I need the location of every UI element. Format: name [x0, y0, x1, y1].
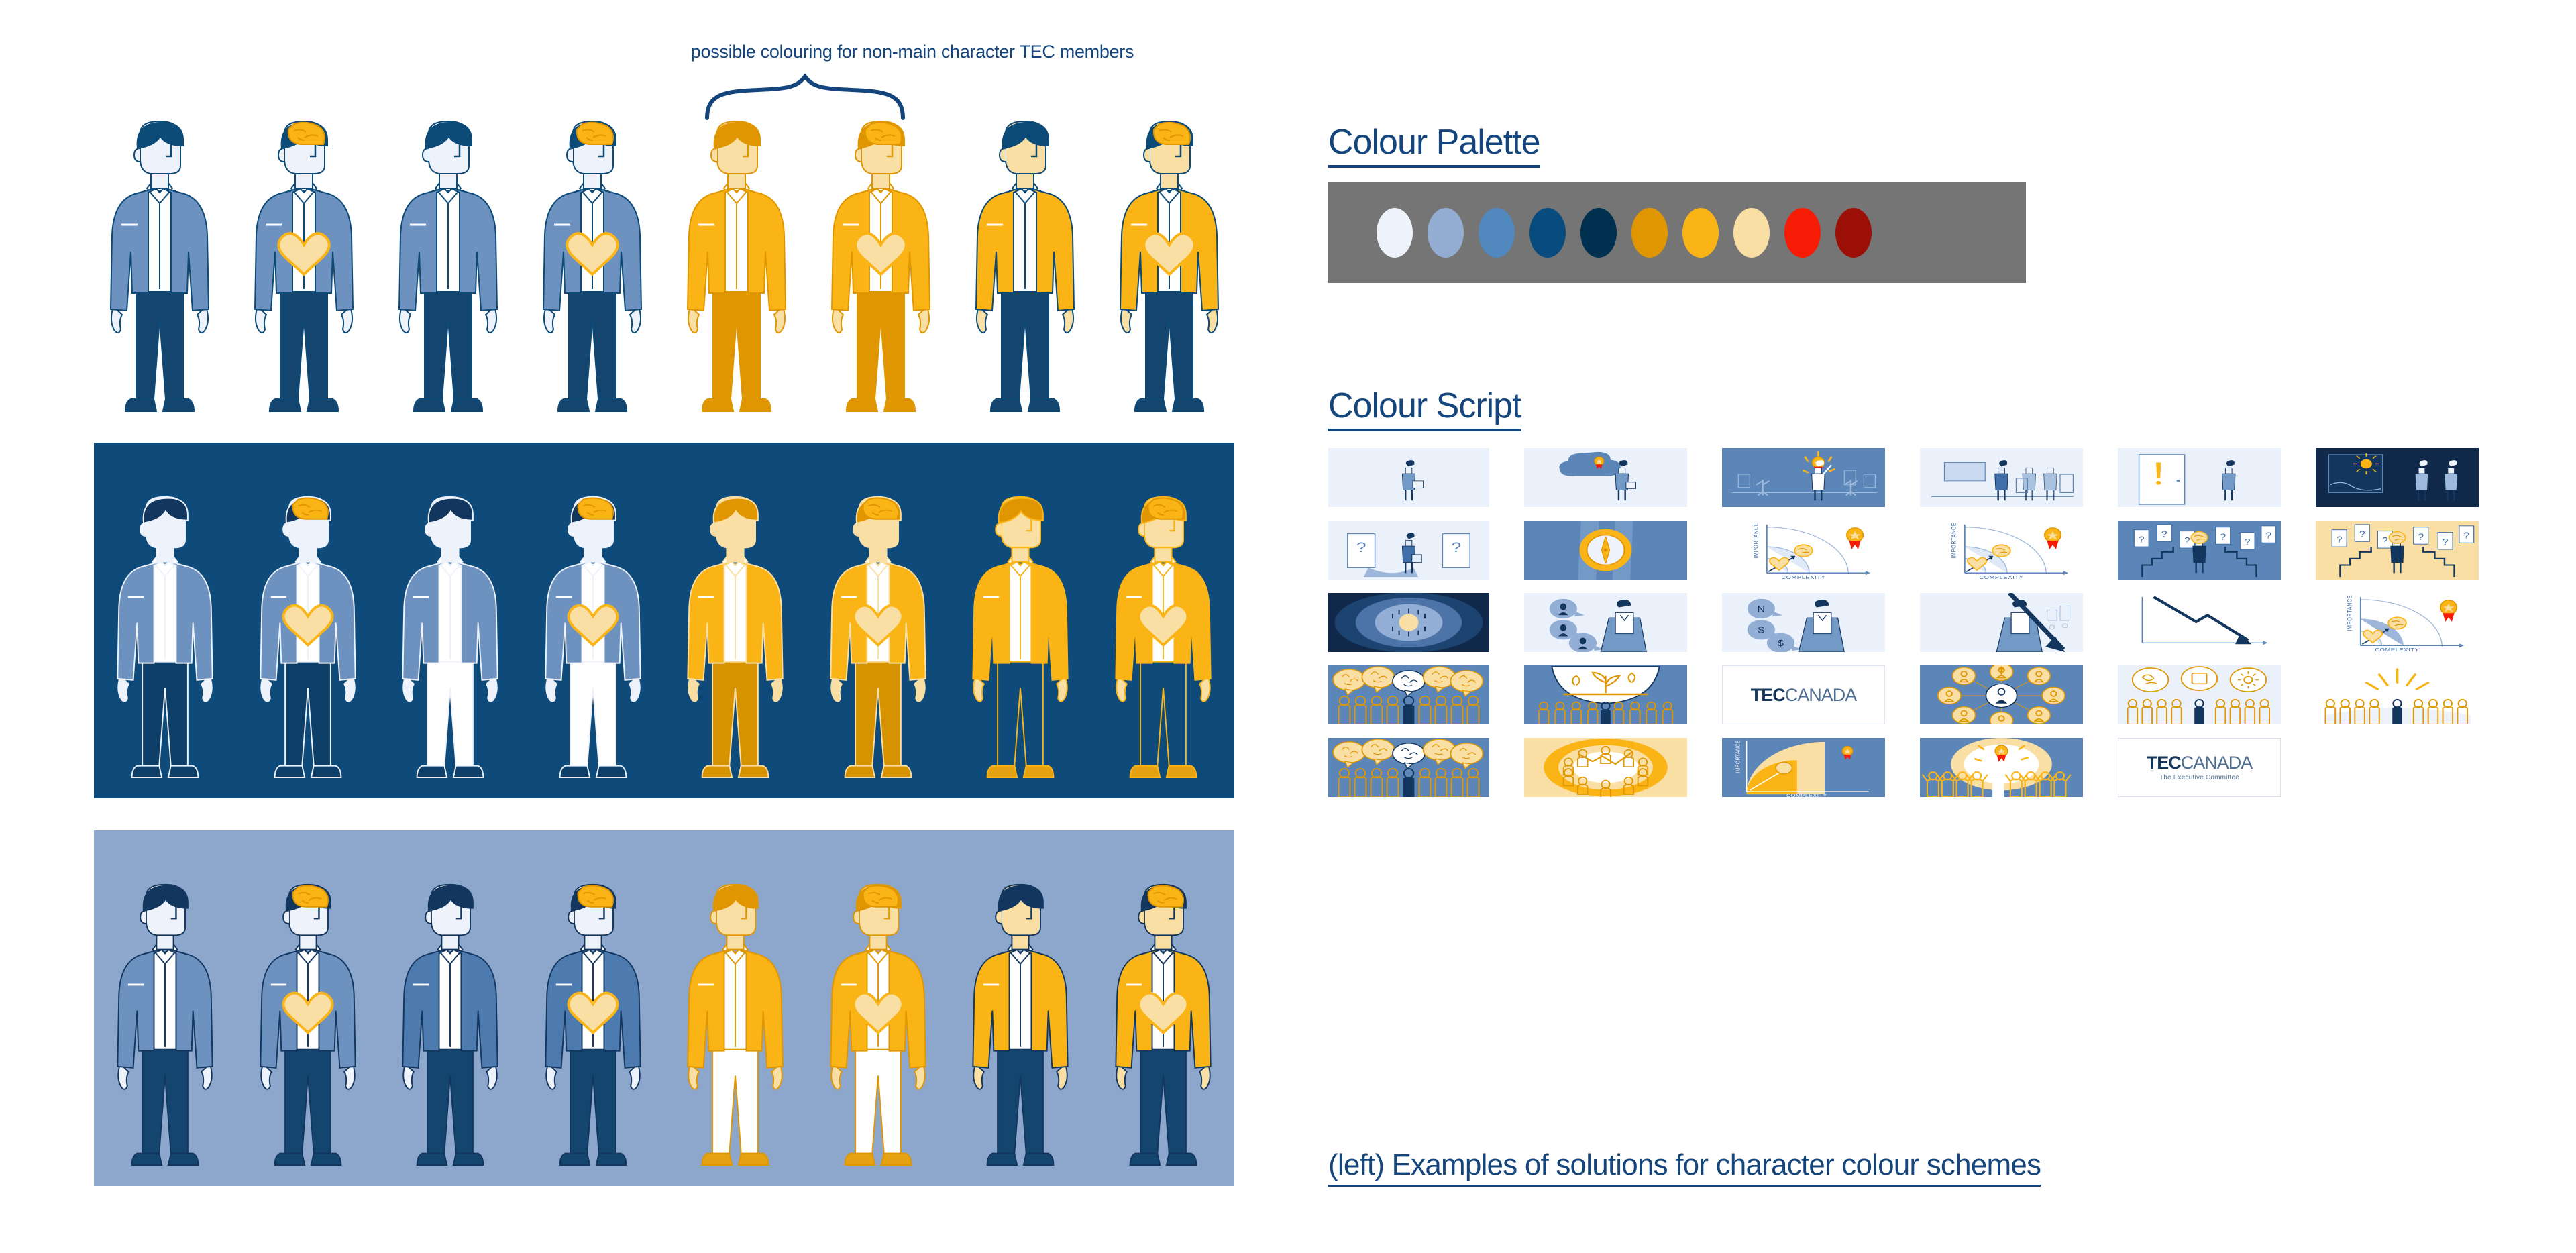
colour-script-thumbnail-night-window[interactable]	[2316, 448, 2479, 507]
colour-script-row: ? ? IMPORTANCE	[1328, 521, 2509, 580]
character-colour-sheet: possible colouring for non-main characte…	[0, 0, 1275, 1253]
character-2[interactable]	[231, 84, 376, 433]
colour-script-thumbnail-crowd-medal-dark[interactable]	[1722, 448, 1885, 507]
svg-text:?: ?	[2161, 530, 2167, 539]
tec-canada-logo-with-tagline: TECCANADA The Executive Committee	[2118, 738, 2281, 797]
character-figure	[384, 117, 512, 433]
colour-script-thumbnail-chart-gold-medal[interactable]: IMPORTANCE COMPLEXITY	[1722, 738, 1885, 797]
character-5[interactable]	[664, 424, 807, 798]
svg-text:COMPLEXITY: COMPLEXITY	[1786, 793, 1827, 797]
character-figure	[244, 493, 372, 798]
tec-logo-tagline: The Executive Committee	[2159, 774, 2239, 781]
character-figure	[386, 493, 514, 798]
character-figure	[529, 493, 657, 798]
character-figure	[529, 881, 657, 1186]
palette-swatch-dark-gold[interactable]	[1631, 208, 1668, 258]
character-figure	[96, 117, 223, 433]
colour-script-thumbnail-medal-celebration[interactable]	[1920, 738, 2083, 797]
svg-text:?: ?	[2418, 533, 2424, 542]
svg-text:COMPLEXITY: COMPLEXITY	[2375, 647, 2419, 652]
palette-swatch-off-white[interactable]	[1377, 208, 1413, 258]
character-figure	[814, 493, 942, 798]
character-1[interactable]	[94, 424, 237, 798]
svg-text:?: ?	[1356, 539, 1366, 555]
svg-text:IMPORTANCE: IMPORTANCE	[1753, 523, 1760, 559]
svg-text:S: S	[1758, 626, 1765, 635]
character-figure	[957, 493, 1084, 798]
svg-text:?: ?	[2184, 537, 2190, 546]
character-4[interactable]	[522, 424, 665, 798]
colour-script-thumbnail-thought-bubbles-audience[interactable]	[2118, 665, 2281, 724]
character-5[interactable]	[664, 812, 807, 1186]
colour-palette-title: Colour Palette	[1328, 124, 1540, 168]
colour-script-thumbnail-meeting-room[interactable]	[1920, 448, 2083, 507]
character-8[interactable]	[1092, 812, 1235, 1186]
colour-script-row: N S $	[1328, 593, 2509, 652]
svg-text:IMPORTANCE: IMPORTANCE	[1735, 740, 1741, 773]
character-3[interactable]	[379, 424, 522, 798]
colour-script-thumbnail-network-hub[interactable]	[1920, 665, 2083, 724]
colour-script-row: IMPORTANCE COMPLEXITY	[1328, 738, 2509, 797]
character-figure	[672, 493, 799, 798]
tec-logo-bold: TEC	[1751, 685, 1785, 705]
character-6[interactable]	[808, 84, 953, 433]
colour-script-thumbnail-tec-logo-tagline[interactable]: TECCANADA The Executive Committee	[2118, 738, 2281, 797]
colour-script-thumbnail-speech-crowd-gold[interactable]	[1328, 738, 1489, 797]
svg-text:?: ?	[1451, 539, 1461, 555]
bracket-annotation: possible colouring for non-main characte…	[684, 42, 1140, 129]
character-8[interactable]	[1092, 424, 1235, 798]
character-figure	[814, 881, 942, 1186]
character-8[interactable]	[1097, 84, 1241, 433]
character-3[interactable]	[379, 812, 522, 1186]
character-figure	[1099, 881, 1227, 1186]
colour-script-thumbnail-tec-logo[interactable]: TECCANADA	[1722, 665, 1885, 724]
character-row-on-white	[87, 84, 1241, 433]
character-row-on-navy	[94, 443, 1234, 798]
character-7[interactable]	[949, 424, 1092, 798]
colour-script-thumbnail-speech-crowd-gold[interactable]	[1328, 665, 1489, 724]
character-2[interactable]	[237, 424, 380, 798]
character-figure	[673, 117, 800, 433]
palette-swatch-light-steel-blue[interactable]	[1428, 208, 1464, 258]
character-figure	[961, 117, 1089, 433]
character-4[interactable]	[522, 812, 665, 1186]
character-row-on-light-blue	[94, 830, 1234, 1186]
colour-script-row	[1328, 448, 2509, 507]
colour-script-thumbnail-gold-ring-people[interactable]	[1524, 738, 1687, 797]
character-figure	[817, 117, 945, 433]
colour-script-thumbnail-chart-heart-brain-white[interactable]: IMPORTANCE COMPLEXITY	[1722, 521, 1885, 580]
svg-text:N: N	[1758, 605, 1765, 614]
colour-script-title: Colour Script	[1328, 388, 1521, 431]
svg-text:$: $	[1778, 639, 1784, 649]
character-figure	[101, 881, 229, 1186]
character-figure	[957, 881, 1084, 1186]
curly-brace-icon	[704, 74, 906, 121]
colour-script-thumbnail-two-doors-question[interactable]: ? ?	[1328, 521, 1489, 580]
character-figure	[244, 881, 372, 1186]
colour-script-thumbnail-declining-graph[interactable]	[2118, 593, 2281, 652]
svg-text:?: ?	[2463, 531, 2469, 541]
tec-canada-logo: TECCANADA	[1722, 665, 1885, 724]
colour-script-thumbnail-question-crowd-cream[interactable]: ? ? ? ? ? ?	[2316, 521, 2479, 580]
colour-script-grid: ? ? IMPORTANCE	[1328, 448, 2509, 810]
right-column: Colour Palette Colour Script	[1325, 0, 2576, 1253]
character-7[interactable]	[949, 812, 1092, 1186]
colour-script-thumbnail-radial-target[interactable]	[1328, 593, 1489, 652]
character-figure	[1099, 493, 1227, 798]
character-figure	[386, 881, 514, 1186]
colour-script-thumbnail-question-crowd-blue[interactable]: ? ? ? ? ? ?	[2118, 521, 2281, 580]
tec-logo-light: CANADA	[1785, 685, 1857, 705]
svg-text:IMPORTANCE: IMPORTANCE	[2347, 595, 2353, 631]
palette-swatch-gold[interactable]	[1682, 208, 1719, 258]
design-board: possible colouring for non-main characte…	[0, 0, 2576, 1253]
svg-text:?: ?	[2139, 535, 2145, 545]
colour-script-thumbnail-door-exclaim[interactable]	[2118, 448, 2281, 507]
palette-swatch-medium-blue[interactable]	[1479, 208, 1515, 258]
svg-text:?: ?	[2443, 538, 2449, 547]
svg-text:?: ?	[2359, 530, 2365, 539]
svg-text:COMPLEXITY: COMPLEXITY	[1781, 575, 1825, 580]
colour-script-thumbnail-chart-heart-brain-blue[interactable]: IMPORTANCE COMPLEXITY	[2316, 593, 2479, 652]
colour-script-thumbnail-bubbles-people[interactable]	[1524, 593, 1687, 652]
colour-script-thumbnail-chart-heart-brain-white[interactable]: IMPORTANCE COMPLEXITY	[1920, 521, 2083, 580]
svg-text:IMPORTANCE: IMPORTANCE	[1951, 523, 1957, 559]
colour-script-thumbnail-audience-glow[interactable]	[2316, 665, 2479, 724]
character-figure	[529, 117, 656, 433]
character-7[interactable]	[953, 84, 1097, 433]
tec-logo-bold: TEC	[2147, 753, 2181, 773]
character-3[interactable]	[376, 84, 520, 433]
character-2[interactable]	[237, 812, 380, 1186]
svg-text:?: ?	[2245, 538, 2251, 547]
colour-script-thumbnail-down-arrow-office[interactable]	[1920, 593, 2083, 652]
colour-script-thumbnail-bubbles-icons[interactable]: N S $	[1722, 593, 1885, 652]
character-6[interactable]	[807, 812, 950, 1186]
palette-swatch-cream[interactable]	[1733, 208, 1770, 258]
palette-swatch-deep-blue[interactable]	[1529, 208, 1566, 258]
character-5[interactable]	[664, 84, 808, 433]
character-figure	[672, 881, 799, 1186]
palette-swatch-bright-red[interactable]	[1784, 208, 1821, 258]
character-1[interactable]	[94, 812, 237, 1186]
tec-logo-light: CANADA	[2181, 753, 2253, 773]
svg-text:?: ?	[2337, 535, 2343, 545]
colour-script-row: TECCANADA	[1328, 665, 2509, 724]
palette-swatch-navy[interactable]	[1580, 208, 1617, 258]
colour-script-thumbnail-bowl-sprout[interactable]	[1524, 665, 1687, 724]
svg-text:?: ?	[2382, 537, 2388, 546]
svg-text:?: ?	[2220, 533, 2226, 542]
character-figure	[240, 117, 368, 433]
character-1[interactable]	[87, 84, 231, 433]
svg-text:?: ?	[2265, 531, 2271, 541]
character-4[interactable]	[520, 84, 664, 433]
character-figure	[1106, 117, 1233, 433]
colour-script-thumbnail-compass[interactable]	[1524, 521, 1687, 580]
character-6[interactable]	[807, 424, 950, 798]
bracket-annotation-label: possible colouring for non-main characte…	[684, 42, 1140, 62]
board-caption: (left) Examples of solutions for charact…	[1328, 1148, 2041, 1187]
svg-text:COMPLEXITY: COMPLEXITY	[1979, 575, 2023, 580]
colour-script-thumbnail-thought-medal[interactable]	[1524, 448, 1687, 507]
palette-swatch-dark-red[interactable]	[1835, 208, 1872, 258]
colour-script-thumbnail-figure-standing[interactable]	[1328, 448, 1489, 507]
colour-palette-band	[1328, 182, 2026, 283]
character-figure	[101, 493, 229, 798]
